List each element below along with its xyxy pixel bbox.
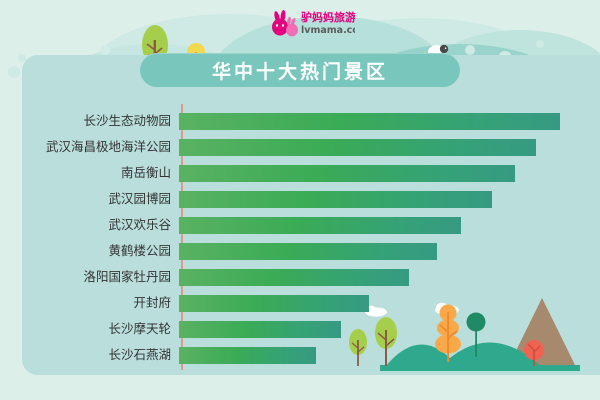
chart-bar-track xyxy=(177,165,600,182)
brand-name-cn: 驴妈妈旅游 xyxy=(301,10,355,24)
chart-row: 长沙石燕湖 xyxy=(0,342,600,368)
chart-bar-track xyxy=(177,243,600,260)
chart-row: 长沙摩天轮 xyxy=(0,316,600,342)
chart-row: 开封府 xyxy=(0,290,600,316)
chart-row-label: 武汉园博园 xyxy=(0,193,177,206)
bokeh-dot xyxy=(100,45,110,55)
bokeh-dot xyxy=(8,66,20,78)
page-title-text: 华中十大热门景区 xyxy=(212,57,388,84)
chart-bar[interactable] xyxy=(179,165,515,182)
chart-row: 武汉欢乐谷 xyxy=(0,212,600,238)
chart-row: 武汉海昌极地海洋公园 xyxy=(0,134,600,160)
chart-bar[interactable] xyxy=(179,191,492,208)
brand-logo-svg: 驴妈妈旅游 lvmama.com xyxy=(267,8,355,38)
chart-row-label: 洛阳国家牡丹园 xyxy=(0,271,177,284)
rabbit-icon xyxy=(272,10,298,37)
chart-bar[interactable] xyxy=(179,321,341,338)
bokeh-dot xyxy=(536,40,544,48)
chart-row-label: 黄鹤楼公园 xyxy=(0,245,177,258)
chart-row: 长沙生态动物园 xyxy=(0,108,600,134)
chart-bar[interactable] xyxy=(179,243,437,260)
chart-row: 南岳衡山 xyxy=(0,160,600,186)
chart-bar[interactable] xyxy=(179,269,409,286)
chart-bar-track xyxy=(177,295,600,312)
page-title: 华中十大热门景区 xyxy=(140,53,460,87)
infographic-root: 驴妈妈旅游 lvmama.com 华中十大热门景区 xyxy=(0,0,600,400)
chart-bar-track xyxy=(177,191,600,208)
chart-row-label: 开封府 xyxy=(0,297,177,310)
chart-bar[interactable] xyxy=(179,347,316,364)
bar-chart: 长沙生态动物园武汉海昌极地海洋公园南岳衡山武汉园博园武汉欢乐谷黄鹤楼公园洛阳国家… xyxy=(0,100,600,375)
chart-bar[interactable] xyxy=(179,113,560,130)
chart-bar-track xyxy=(177,347,600,364)
chart-bar[interactable] xyxy=(179,295,369,312)
chart-row-label: 长沙摩天轮 xyxy=(0,323,177,336)
chart-bar-track xyxy=(177,321,600,338)
chart-row: 黄鹤楼公园 xyxy=(0,238,600,264)
chart-bar-track xyxy=(177,217,600,234)
chart-row-label: 武汉海昌极地海洋公园 xyxy=(0,141,177,154)
chart-row-label: 武汉欢乐谷 xyxy=(0,219,177,232)
chart-bar-track xyxy=(177,139,600,156)
chart-bar[interactable] xyxy=(179,139,536,156)
chart-bar-track xyxy=(177,269,600,286)
brand-domain: lvmama.com xyxy=(301,25,355,36)
brand-logo[interactable]: 驴妈妈旅游 lvmama.com xyxy=(267,8,355,38)
chart-bar-track xyxy=(177,113,600,130)
bokeh-dot xyxy=(465,45,475,55)
chart-row: 武汉园博园 xyxy=(0,186,600,212)
chart-bar[interactable] xyxy=(179,217,461,234)
chart-row: 洛阳国家牡丹园 xyxy=(0,264,600,290)
chart-row-label: 长沙石燕湖 xyxy=(0,349,177,362)
chart-row-label: 南岳衡山 xyxy=(0,167,177,180)
chart-row-label: 长沙生态动物园 xyxy=(0,115,177,128)
